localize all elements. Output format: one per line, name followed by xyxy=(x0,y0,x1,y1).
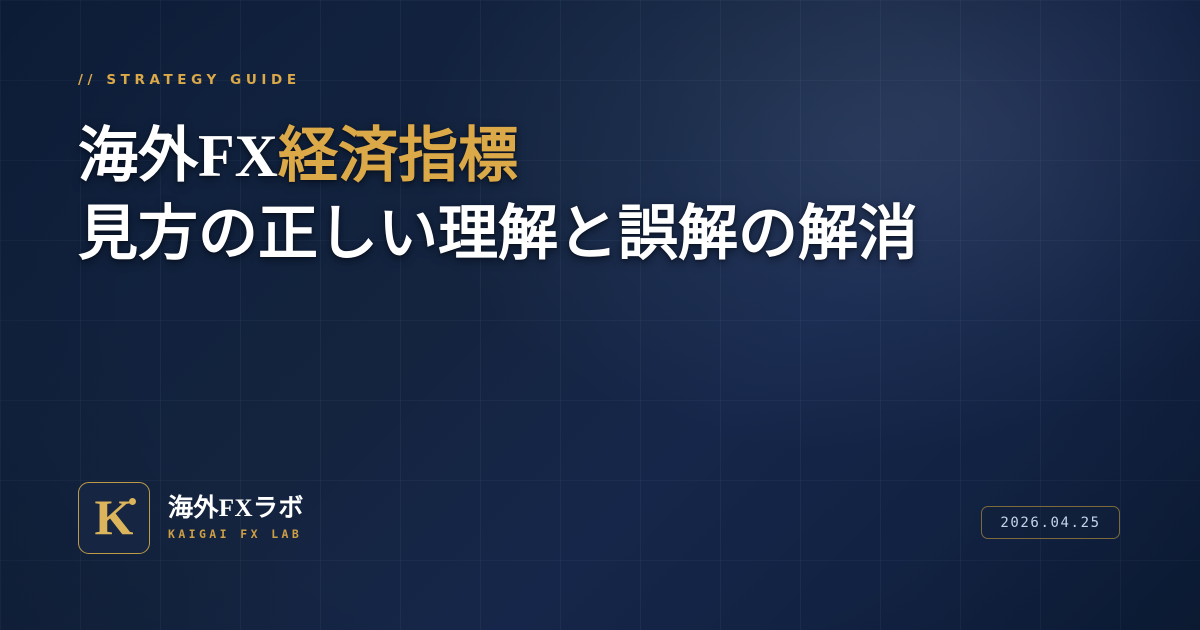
brand-logo-letter: K xyxy=(79,492,149,542)
title-line-2: 見方の正しい理解と誤解の解消 xyxy=(78,195,1138,273)
brand-logo-icon: K xyxy=(78,482,150,554)
page-title: 海外FX経済指標 見方の正しい理解と誤解の解消 xyxy=(78,117,1138,273)
card-content: // STRATEGY GUIDE 海外FX経済指標 見方の正しい理解と誤解の解… xyxy=(0,0,1200,630)
brand-name: 海外FXラボ xyxy=(168,495,304,523)
brand-lockup: K 海外FXラボ KAIGAI FX LAB xyxy=(78,482,304,554)
brand-subtitle: KAIGAI FX LAB xyxy=(168,527,304,541)
date-badge: 2026.04.25 xyxy=(981,506,1120,539)
ogp-card: // STRATEGY GUIDE 海外FX経済指標 見方の正しい理解と誤解の解… xyxy=(0,0,1200,630)
title-line-1: 海外FX経済指標 xyxy=(78,117,1138,195)
title-line-1-accent: 経済指標 xyxy=(278,123,518,189)
title-line-1-main: 海外FX xyxy=(78,123,278,189)
eyebrow-label: // STRATEGY GUIDE xyxy=(78,70,301,90)
brand-text: 海外FXラボ KAIGAI FX LAB xyxy=(168,495,304,541)
dot-icon xyxy=(129,498,136,505)
